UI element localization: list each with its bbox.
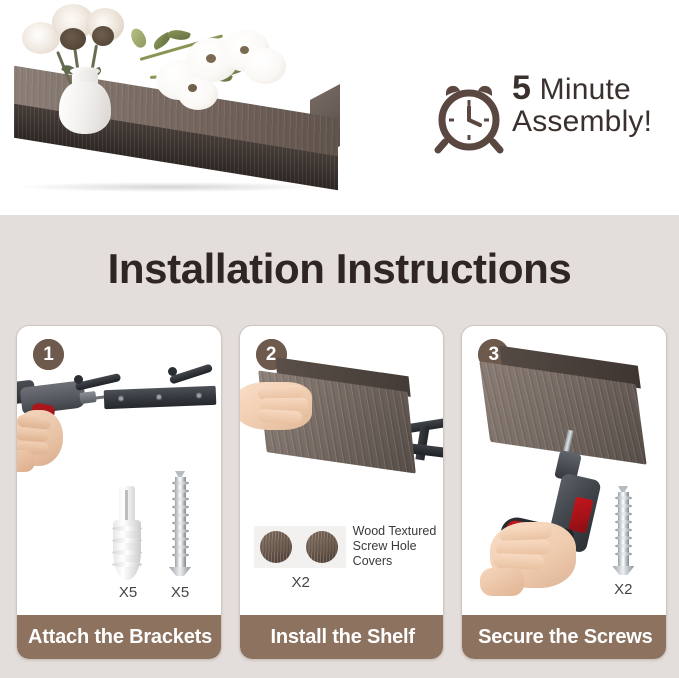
step-2-footer-label: Install the Shelf bbox=[240, 615, 445, 659]
hand bbox=[490, 522, 576, 588]
assembly-text: 5 Minute Assembly! bbox=[512, 72, 670, 138]
screw-hole-covers-swatch-box bbox=[254, 526, 346, 568]
step-1-footer-label: Attach the Brackets bbox=[17, 615, 222, 659]
shelf-shadow bbox=[20, 182, 320, 192]
step-3-illustration: X2 bbox=[462, 326, 667, 615]
orchid-leaf bbox=[167, 27, 191, 43]
screw-thread bbox=[172, 537, 189, 541]
dried-flower-center bbox=[60, 28, 86, 50]
screw-thread bbox=[172, 529, 189, 533]
bracket-screw-hole bbox=[196, 392, 202, 398]
anchor-thread bbox=[112, 550, 142, 555]
screw-thread bbox=[172, 521, 189, 525]
dried-flower-center bbox=[92, 26, 114, 46]
screw-thread bbox=[615, 552, 632, 556]
screw-thread bbox=[172, 513, 189, 517]
assembly-line-2: Assembly! bbox=[512, 106, 670, 138]
hero-shelf-product bbox=[0, 82, 350, 202]
bracket-screw-hole bbox=[156, 394, 162, 400]
screw-head bbox=[169, 567, 191, 576]
metal-bracket bbox=[104, 386, 217, 409]
anchor-quantity: X5 bbox=[103, 584, 153, 601]
bracket-rod-cap bbox=[168, 367, 177, 376]
anchor-body bbox=[113, 520, 141, 580]
hand bbox=[16, 410, 63, 466]
screw-thread bbox=[615, 520, 632, 524]
step-3-footer-label: Secure the Screws bbox=[462, 615, 667, 659]
screw-graphic bbox=[169, 471, 191, 581]
screw-thread bbox=[615, 496, 632, 500]
step-card-3: 3 bbox=[461, 325, 667, 660]
five-minute-assembly-badge: 5 Minute Assembly! bbox=[432, 72, 668, 170]
screw-thread bbox=[172, 497, 189, 501]
bracket-rod-cap bbox=[74, 375, 83, 384]
orchid-bloom bbox=[244, 48, 286, 84]
hands bbox=[239, 382, 312, 430]
screw-hole-covers-label: Wood Textured Screw Hole Covers bbox=[353, 524, 445, 569]
wrist bbox=[480, 568, 524, 596]
orchid-center bbox=[240, 46, 249, 54]
anchor-thread bbox=[112, 562, 142, 567]
bracket-screw-hole bbox=[118, 395, 124, 401]
step-card-1: 1 bbox=[16, 325, 222, 660]
finger bbox=[257, 409, 302, 424]
screw-thread bbox=[615, 504, 632, 508]
assembly-line-1: 5 Minute bbox=[512, 72, 670, 106]
screw-quantity: X5 bbox=[155, 584, 205, 601]
orchid-bud bbox=[128, 26, 148, 50]
page-title: Installation Instructions bbox=[0, 245, 679, 293]
drywall-anchor-graphic bbox=[113, 486, 141, 580]
step-1-illustration: X5 X5 bbox=[17, 326, 222, 615]
orchid-center bbox=[188, 84, 197, 92]
screw-thread bbox=[172, 545, 189, 549]
screw-thread bbox=[172, 481, 189, 485]
screw-graphic bbox=[612, 486, 634, 586]
instructions-section: Installation Instructions 1 bbox=[0, 215, 679, 678]
screw-quantity: X2 bbox=[598, 581, 648, 598]
screw-thread bbox=[172, 553, 189, 557]
cover-quantity: X2 bbox=[276, 574, 326, 591]
screw-head bbox=[612, 566, 634, 575]
white-vase bbox=[59, 82, 111, 134]
finger bbox=[16, 428, 49, 442]
minutes-number: 5 bbox=[512, 69, 531, 107]
step-2-illustration: Wood Textured Screw Hole Covers X2 bbox=[240, 326, 445, 615]
screw-thread bbox=[172, 489, 189, 493]
screw-hole-cover bbox=[260, 531, 292, 563]
anchor-thread bbox=[112, 538, 142, 543]
screw-hole-cover bbox=[306, 531, 338, 563]
alarm-clock-icon bbox=[432, 80, 506, 154]
wrist bbox=[16, 450, 35, 472]
orchid-bloom bbox=[178, 78, 218, 110]
screw-thread bbox=[172, 505, 189, 509]
product-instruction-image: 5 Minute Assembly! Installation Instruct… bbox=[0, 0, 679, 678]
hero-section: 5 Minute Assembly! bbox=[0, 0, 679, 215]
minute-word: Minute bbox=[540, 73, 631, 106]
screw-thread bbox=[615, 536, 632, 540]
steps-container: 1 bbox=[16, 325, 667, 658]
orchid-center bbox=[206, 54, 216, 63]
screw-thread bbox=[615, 544, 632, 548]
screw-thread bbox=[615, 512, 632, 516]
anchor-thread bbox=[112, 526, 142, 531]
screw-thread bbox=[615, 528, 632, 532]
anchor-slot bbox=[125, 490, 128, 520]
step-card-2: 2 bbox=[239, 325, 445, 660]
